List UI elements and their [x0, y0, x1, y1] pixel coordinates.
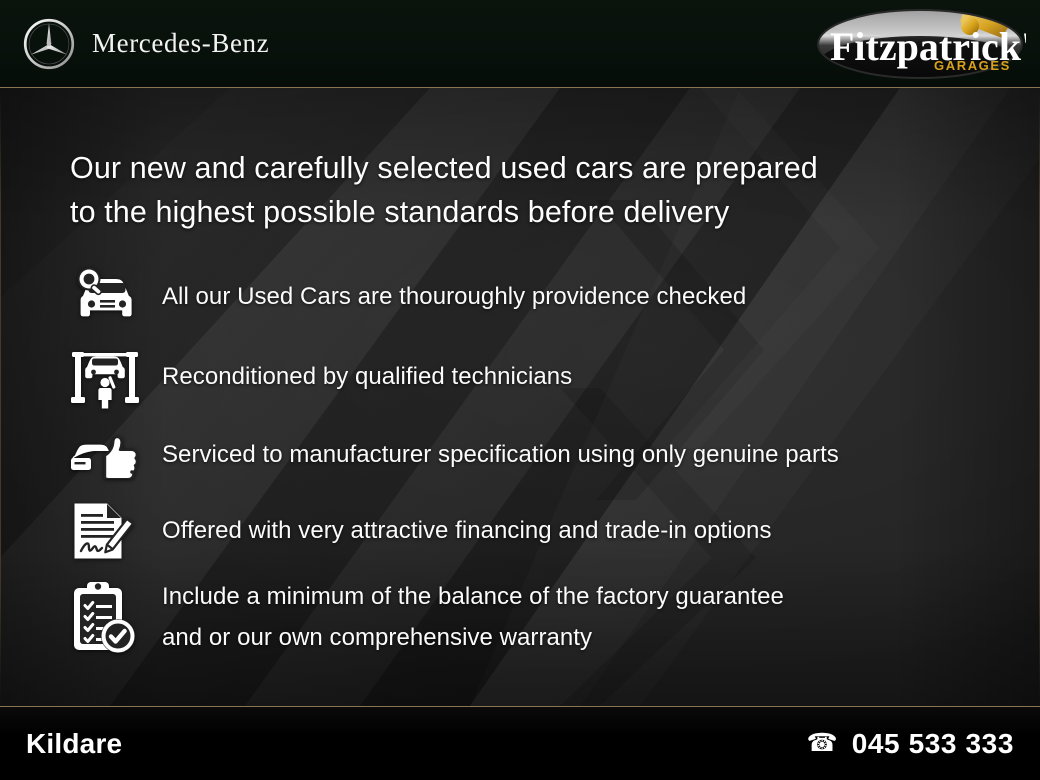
- main-content: Our new and carefully selected used cars…: [0, 88, 1040, 706]
- car-thumbs-up-icon: [70, 431, 162, 479]
- page-title: Our new and carefully selected used cars…: [70, 146, 970, 234]
- car-lift-technician-icon: [70, 344, 162, 410]
- car-inspection-icon: [70, 266, 162, 328]
- garages-subtitle: GARAGES: [934, 58, 1011, 73]
- list-item-label-line-1: Include a minimum of the balance of the …: [162, 576, 784, 617]
- list-item-label: Offered with very attractive financing a…: [162, 511, 772, 551]
- mercedes-star-icon: [22, 17, 76, 71]
- list-item: All our Used Cars are thouroughly provid…: [70, 264, 1040, 330]
- phone-contact[interactable]: ☎ 045 533 333: [807, 728, 1014, 760]
- phone-number: 045 533 333: [852, 728, 1014, 760]
- mercedes-benz-brand: Mercedes-Benz: [0, 17, 269, 71]
- promo-slide: Mercedes-Benz: [0, 0, 1040, 780]
- telephone-icon: ☎: [807, 731, 838, 756]
- document-signature-icon: [70, 501, 162, 561]
- list-item-label: Serviced to manufacturer specification u…: [162, 435, 839, 475]
- header-bar: Mercedes-Benz: [0, 0, 1040, 88]
- list-item-label-line-2: and or our own comprehensive warranty: [162, 617, 784, 658]
- headline-line-2: to the highest possible standards before…: [70, 190, 970, 234]
- list-item: Reconditioned by qualified technicians: [70, 344, 1040, 410]
- location-label: Kildare: [26, 728, 122, 760]
- headline-line-1: Our new and carefully selected used cars…: [70, 146, 970, 190]
- list-item-label: Reconditioned by qualified technicians: [162, 357, 572, 397]
- footer-bar: Kildare ☎ 045 533 333: [0, 706, 1040, 780]
- list-item: Include a minimum of the balance of the …: [70, 576, 1040, 658]
- list-item: Serviced to manufacturer specification u…: [70, 422, 1040, 488]
- brand-name: Mercedes-Benz: [92, 28, 269, 59]
- feature-list: All our Used Cars are thouroughly provid…: [70, 264, 1040, 658]
- clipboard-check-icon: [70, 576, 162, 654]
- fitzpatricks-logo[interactable]: Fitzpatrick's GARAGES: [814, 4, 1026, 84]
- list-item: Offered with very attractive financing a…: [70, 498, 1040, 564]
- list-item-label: Include a minimum of the balance of the …: [162, 576, 784, 658]
- list-item-label: All our Used Cars are thouroughly provid…: [162, 277, 746, 317]
